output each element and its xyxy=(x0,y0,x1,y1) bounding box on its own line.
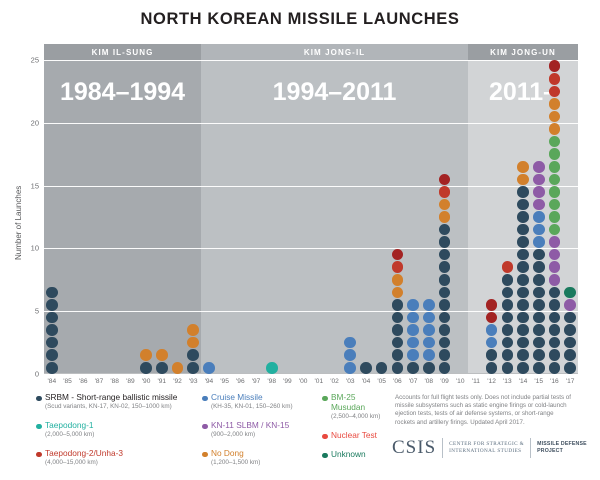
x-axis-tick: '02 xyxy=(327,378,343,385)
page-title: NORTH KOREAN MISSILE LAUNCHES xyxy=(0,10,600,29)
legend-item-range: (4,000–15,000 km) xyxy=(45,458,177,467)
x-axis-line xyxy=(44,373,578,374)
data-dot xyxy=(46,299,58,311)
data-dot xyxy=(407,324,419,336)
legend-bullet-icon xyxy=(36,424,42,430)
x-axis-tick: '14 xyxy=(515,378,531,385)
data-dot xyxy=(549,161,561,173)
data-dot xyxy=(549,211,561,223)
legend-item[interactable]: Taepodong-2/Unha-3(4,000–15,000 km) xyxy=(36,448,177,467)
data-dot xyxy=(392,261,404,273)
data-dot xyxy=(502,362,514,374)
x-axis-tick: '16 xyxy=(547,378,563,385)
x-axis-tick: '11 xyxy=(468,378,484,385)
data-dot xyxy=(423,312,435,324)
legend-bullet-icon xyxy=(322,396,328,402)
legend-bullet-icon xyxy=(202,396,208,402)
data-dot xyxy=(564,299,576,311)
x-axis-tick: '89 xyxy=(123,378,139,385)
x-axis-tick: '06 xyxy=(390,378,406,385)
legend-bullet-icon xyxy=(322,434,328,440)
gridline xyxy=(44,311,578,312)
era-years-kim-jong-un: 2011– xyxy=(468,78,578,107)
data-dot xyxy=(392,349,404,361)
x-axis-tick: '86 xyxy=(75,378,91,385)
logo-org-line1: CENTER FOR STRATEGIC & xyxy=(449,441,524,448)
data-dot xyxy=(564,287,576,299)
x-axis-tick: '96 xyxy=(232,378,248,385)
data-dot xyxy=(564,312,576,324)
legend-item-range: (2,500–4,000 km) xyxy=(331,412,386,421)
legend-column-2: Cruise Missile(KH-35, KN-01, 150–260 km)… xyxy=(202,392,293,476)
legend-item-label: Cruise Missile xyxy=(211,392,293,402)
data-dot xyxy=(533,274,545,286)
data-dot xyxy=(549,186,561,198)
legend-bullet-icon xyxy=(202,452,208,458)
data-dot xyxy=(423,337,435,349)
data-dot xyxy=(533,261,545,273)
y-axis-tick: 15 xyxy=(31,181,39,190)
data-dot xyxy=(533,186,545,198)
data-dot xyxy=(439,186,451,198)
data-dot xyxy=(533,287,545,299)
data-dot xyxy=(46,349,58,361)
data-dot xyxy=(344,349,356,361)
data-dot xyxy=(564,362,576,374)
gridline xyxy=(44,248,578,249)
data-dot xyxy=(533,174,545,186)
x-axis-tick: '97 xyxy=(248,378,264,385)
data-dot xyxy=(502,349,514,361)
legend-item-range: (KH-35, KN-01, 150–260 km) xyxy=(211,402,293,411)
data-dot xyxy=(502,299,514,311)
data-dot xyxy=(266,362,278,374)
legend-item[interactable]: SRBM - Short-range ballistic missile(Scu… xyxy=(36,392,177,411)
data-dot xyxy=(517,211,529,223)
gridline xyxy=(44,60,578,61)
legend-item-label: Nuclear Test xyxy=(331,430,386,440)
legend-item-label: Unknown xyxy=(331,449,386,459)
x-axis-tick: '95 xyxy=(217,378,233,385)
data-dot xyxy=(533,299,545,311)
era-body-kim-il-sung xyxy=(44,60,201,374)
legend-item-label: SRBM - Short-range ballistic missile xyxy=(45,392,177,402)
era-band-kim-jong-un: KIM JONG-UN xyxy=(468,44,578,60)
data-dot xyxy=(486,324,498,336)
legend-item-label: Taepodong-2/Unha-3 xyxy=(45,448,177,458)
data-dot xyxy=(46,312,58,324)
x-axis-tick: '92 xyxy=(170,378,186,385)
x-axis-tick: '88 xyxy=(107,378,123,385)
data-dot xyxy=(549,299,561,311)
data-dot xyxy=(140,362,152,374)
data-dot xyxy=(46,287,58,299)
x-axis-tick: '15 xyxy=(531,378,547,385)
era-band-kim-il-sung: KIM IL-SUNG xyxy=(44,44,201,60)
x-axis-tick: '17 xyxy=(562,378,578,385)
gridline xyxy=(44,186,578,187)
data-dot xyxy=(439,299,451,311)
era-years-kim-jong-il: 1994–2011 xyxy=(201,78,468,107)
data-dot xyxy=(187,362,199,374)
logo-org-line2: INTERNATIONAL STUDIES xyxy=(449,448,524,455)
data-dot xyxy=(533,161,545,173)
data-dot xyxy=(439,236,451,248)
data-dot xyxy=(407,299,419,311)
data-dot xyxy=(533,312,545,324)
x-axis-tick: '03 xyxy=(342,378,358,385)
data-dot xyxy=(533,224,545,236)
x-axis-tick: '85 xyxy=(60,378,76,385)
data-dot xyxy=(533,199,545,211)
data-dot xyxy=(549,73,561,85)
x-axis-tick: '08 xyxy=(421,378,437,385)
legend-item[interactable]: Nuclear Test xyxy=(322,430,386,440)
data-dot xyxy=(423,299,435,311)
data-dot xyxy=(392,274,404,286)
data-dot xyxy=(439,362,451,374)
data-dot xyxy=(46,337,58,349)
y-axis-tick: 25 xyxy=(31,56,39,65)
data-dot xyxy=(549,324,561,336)
x-axis-tick: '98 xyxy=(264,378,280,385)
data-dot xyxy=(517,324,529,336)
data-dot xyxy=(517,287,529,299)
data-dot xyxy=(187,324,199,336)
x-axis-tick: '04 xyxy=(358,378,374,385)
data-dot xyxy=(439,349,451,361)
data-dot xyxy=(564,324,576,336)
data-dot xyxy=(392,299,404,311)
data-dot xyxy=(439,211,451,223)
data-dot xyxy=(517,349,529,361)
data-dot xyxy=(392,324,404,336)
footnote: Accounts for full flight tests only. Doe… xyxy=(395,394,575,427)
data-dot xyxy=(549,236,561,248)
data-dot xyxy=(517,174,529,186)
x-axis-tick: '10 xyxy=(452,378,468,385)
data-dot xyxy=(549,362,561,374)
data-dot xyxy=(344,362,356,374)
legend-column-3: BM-25 Musudan(2,500–4,000 km)Nuclear Tes… xyxy=(322,392,386,468)
data-dot xyxy=(407,312,419,324)
data-dot xyxy=(517,362,529,374)
data-dot xyxy=(533,211,545,223)
data-dot xyxy=(517,161,529,173)
logo-divider-2 xyxy=(530,438,531,458)
legend-item[interactable]: Taepodong-1(2,000–5,000 km) xyxy=(36,420,177,439)
x-axis-tick: '87 xyxy=(91,378,107,385)
x-axis-tick: '12 xyxy=(484,378,500,385)
legend-item-label: KN-11 SLBM / KN-15 xyxy=(211,420,293,430)
legend-item-label: BM-25 Musudan xyxy=(331,392,386,412)
data-dot xyxy=(360,362,372,374)
x-axis-tick: '01 xyxy=(311,378,327,385)
legend-item[interactable]: Unknown xyxy=(322,449,386,459)
y-axis-tick: 5 xyxy=(35,307,39,316)
legend-item[interactable]: Cruise Missile(KH-35, KN-01, 150–260 km) xyxy=(202,392,293,411)
x-axis-tick: '13 xyxy=(499,378,515,385)
y-axis-tick: 0 xyxy=(35,370,39,379)
x-axis-tick: '07 xyxy=(405,378,421,385)
legend-bullet-icon xyxy=(202,424,208,430)
data-dot xyxy=(517,224,529,236)
data-dot xyxy=(486,362,498,374)
logo-org-name: CENTER FOR STRATEGIC & INTERNATIONAL STU… xyxy=(449,441,524,455)
data-dot xyxy=(533,324,545,336)
legend-bullet-icon xyxy=(36,452,42,458)
data-dot xyxy=(203,362,215,374)
data-dot xyxy=(549,349,561,361)
data-dot xyxy=(502,287,514,299)
x-axis-tick: '00 xyxy=(295,378,311,385)
data-dot xyxy=(517,236,529,248)
data-dot xyxy=(549,148,561,160)
data-dot xyxy=(517,299,529,311)
data-dot xyxy=(46,324,58,336)
legend-item[interactable]: No Dong(1,200–1,500 km) xyxy=(202,448,293,467)
x-axis-tick: '84 xyxy=(44,378,60,385)
data-dot xyxy=(187,349,199,361)
logo-project-line1: MISSILE DEFENSE xyxy=(537,441,587,448)
data-dot xyxy=(46,362,58,374)
data-dot xyxy=(502,324,514,336)
logo-divider-1 xyxy=(442,438,443,458)
data-dot xyxy=(156,349,168,361)
x-axis-tick: '94 xyxy=(201,378,217,385)
era-band-kim-jong-il: KIM JONG-IL xyxy=(201,44,468,60)
data-dot xyxy=(533,337,545,349)
legend-item-range: (2,000–5,000 km) xyxy=(45,430,177,439)
gridline xyxy=(44,123,578,124)
legend-item-label: Taepodong-1 xyxy=(45,420,177,430)
data-dot xyxy=(502,274,514,286)
era-years-kim-il-sung: 1984–1994 xyxy=(44,78,201,107)
chart-page: NORTH KOREAN MISSILE LAUNCHES Number of … xyxy=(0,0,600,480)
legend-item-range: (1,200–1,500 km) xyxy=(211,458,293,467)
csis-logo: CSIS CENTER FOR STRATEGIC & INTERNATIONA… xyxy=(392,437,587,459)
data-dot xyxy=(156,362,168,374)
legend-bullet-icon xyxy=(36,396,42,402)
x-axis-tick: '05 xyxy=(374,378,390,385)
logo-project-name: MISSILE DEFENSE PROJECT xyxy=(537,441,587,455)
logo-project-line2: PROJECT xyxy=(537,448,587,455)
data-dot xyxy=(517,312,529,324)
data-dot xyxy=(140,349,152,361)
data-dot xyxy=(407,362,419,374)
legend-column-1: SRBM - Short-range ballistic missile(Scu… xyxy=(36,392,177,476)
legend-bullet-icon xyxy=(322,453,328,459)
data-dot xyxy=(517,199,529,211)
legend-item[interactable]: KN-11 SLBM / KN-15(900–2,000 km) xyxy=(202,420,293,439)
data-dot xyxy=(564,349,576,361)
y-axis-tick: 20 xyxy=(31,118,39,127)
data-dot xyxy=(423,349,435,361)
data-dot xyxy=(502,261,514,273)
x-axis-tick: '93 xyxy=(185,378,201,385)
data-dot xyxy=(423,362,435,374)
data-dot xyxy=(533,362,545,374)
x-axis-tick: '09 xyxy=(437,378,453,385)
legend-item-range: (900–2,000 km) xyxy=(211,430,293,439)
plot-area: KIM IL-SUNG1984–1994KIM JONG-IL1994–2011… xyxy=(44,44,578,374)
data-dot xyxy=(517,261,529,273)
x-axis-tick: '99 xyxy=(280,378,296,385)
data-dot xyxy=(376,362,388,374)
data-dot xyxy=(439,324,451,336)
data-dot xyxy=(533,236,545,248)
legend-item-range: (Scud variants, KN-17, KN-02, 150–1000 k… xyxy=(45,402,177,411)
data-dot xyxy=(549,274,561,286)
y-axis-label: Number of Launches xyxy=(14,186,23,260)
data-dot xyxy=(549,98,561,110)
data-dot xyxy=(533,349,545,361)
data-dot xyxy=(172,362,184,374)
logo-wordmark: CSIS xyxy=(392,437,436,459)
legend-item-label: No Dong xyxy=(211,448,293,458)
data-dot xyxy=(517,337,529,349)
legend-item[interactable]: BM-25 Musudan(2,500–4,000 km) xyxy=(322,392,386,421)
data-dot xyxy=(407,349,419,361)
data-dot xyxy=(392,362,404,374)
y-axis-tick: 10 xyxy=(31,244,39,253)
data-dot xyxy=(423,324,435,336)
data-dot xyxy=(517,274,529,286)
data-dot xyxy=(533,249,545,261)
data-dot xyxy=(549,261,561,273)
data-dot xyxy=(549,123,561,135)
data-dot xyxy=(486,299,498,311)
data-dot xyxy=(439,274,451,286)
x-axis-tick: '90 xyxy=(138,378,154,385)
x-axis-tick: '91 xyxy=(154,378,170,385)
data-dot xyxy=(517,186,529,198)
